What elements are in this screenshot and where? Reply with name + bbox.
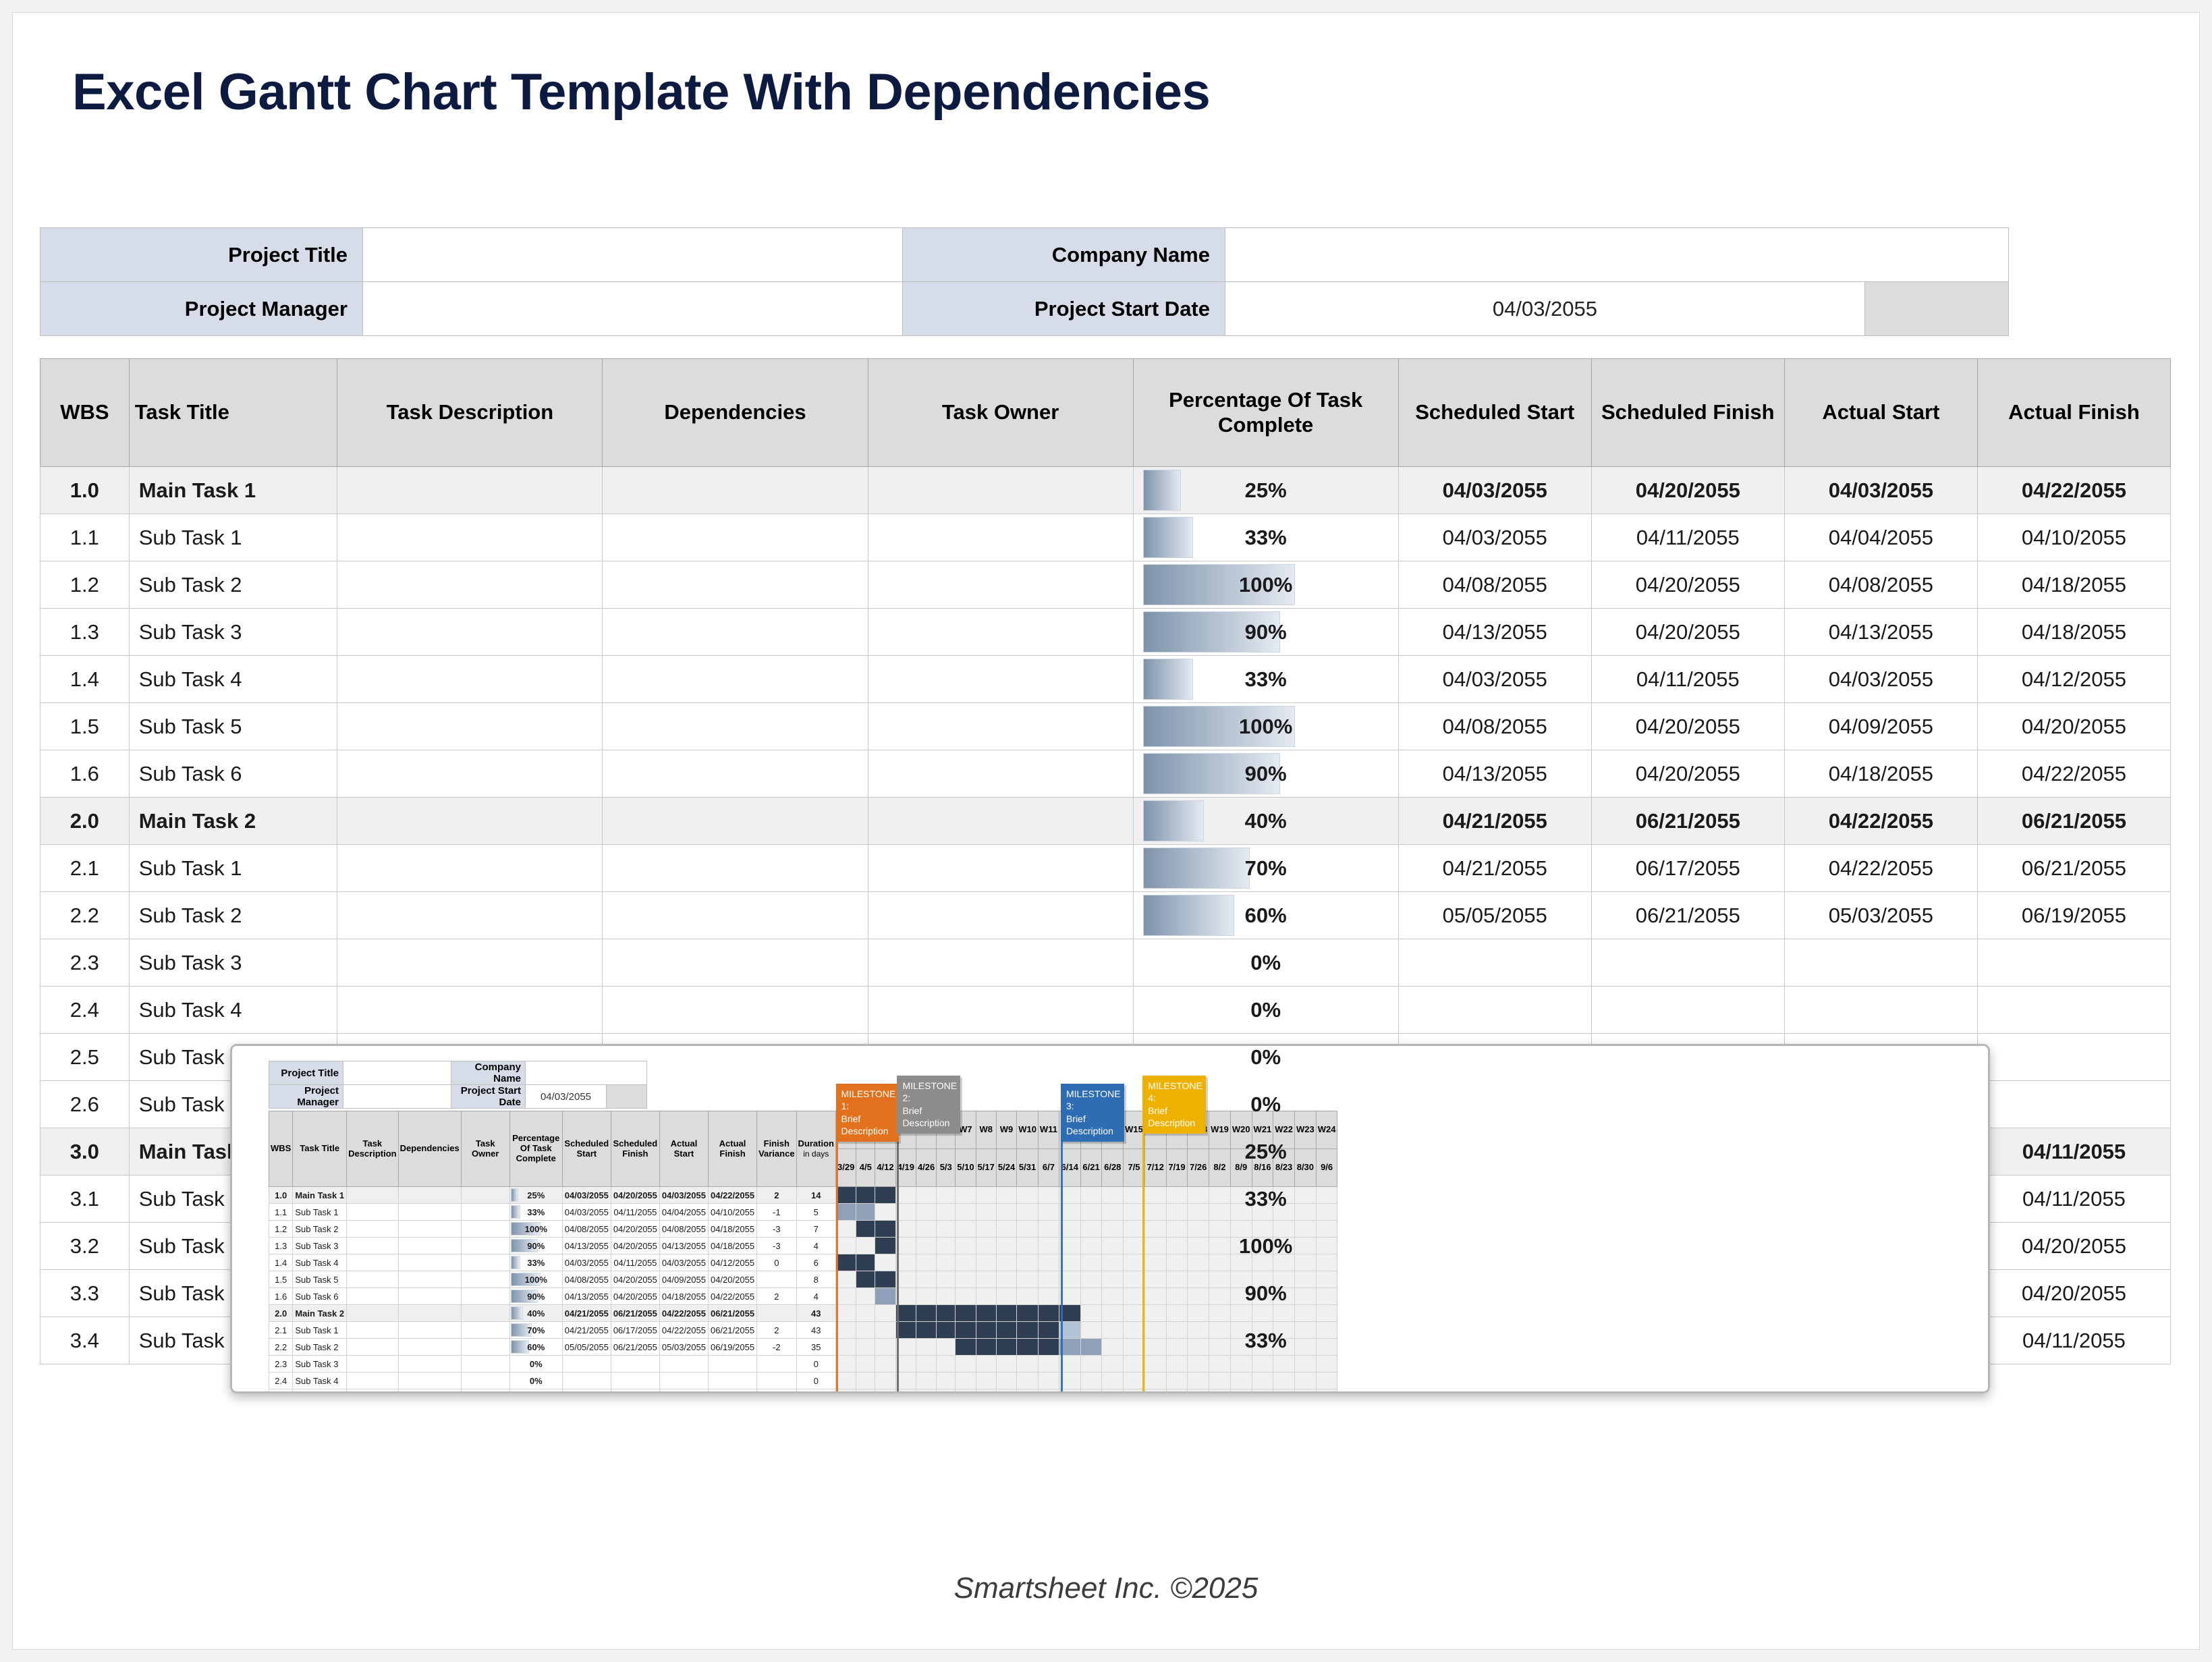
inset-table-row[interactable]: 2.2Sub Task 260%05/05/205506/21/205505/0… — [269, 1339, 1337, 1356]
cell-actual-start[interactable]: 04/22/2055 — [1784, 845, 1977, 892]
inset-cell-duration[interactable]: 8 — [796, 1271, 835, 1288]
cell-scheduled-start[interactable]: 04/13/2055 — [1398, 750, 1591, 798]
cell-task-title[interactable]: Sub Task 2 — [129, 561, 337, 609]
inset-cell-actual-start[interactable]: 04/09/2055 — [659, 1271, 708, 1288]
cell-scheduled-finish[interactable]: 04/20/2055 — [1591, 467, 1784, 514]
table-row[interactable]: 1.0Main Task 125%04/03/205504/20/205504/… — [40, 467, 2171, 514]
cell-percentage-complete[interactable]: 100% — [1133, 561, 1398, 609]
inset-cell-finish-variance[interactable] — [757, 1271, 796, 1288]
cell-task-owner[interactable] — [868, 703, 1133, 750]
cell-actual-finish[interactable]: 04/22/2055 — [1977, 467, 2170, 514]
inset-cell-task-description[interactable] — [347, 1288, 399, 1305]
cell-actual-start[interactable]: 04/08/2055 — [1784, 561, 1977, 609]
cell-actual-start[interactable] — [1784, 987, 1977, 1034]
inset-cell-scheduled-finish[interactable] — [611, 1389, 659, 1394]
cell-scheduled-start[interactable]: 04/21/2055 — [1398, 845, 1591, 892]
inset-cell-finish-variance[interactable]: -3 — [757, 1221, 796, 1238]
milestone-flag[interactable]: MILESTONE 1: Brief Description — [836, 1084, 900, 1142]
inset-cell-percentage[interactable]: 60% — [509, 1339, 562, 1356]
cell-dependencies[interactable] — [603, 561, 868, 609]
inset-cell-scheduled-finish[interactable]: 04/20/2055 — [611, 1187, 659, 1204]
cell-actual-finish[interactable]: 04/11/2055 — [1977, 1128, 2170, 1175]
cell-actual-finish[interactable]: 04/20/2055 — [1977, 1270, 2170, 1317]
inset-cell-actual-start[interactable]: 04/22/2055 — [659, 1305, 708, 1322]
cell-task-owner[interactable] — [868, 892, 1133, 939]
table-row[interactable]: 1.1Sub Task 133%04/03/205504/11/205504/0… — [40, 514, 2171, 561]
inset-cell-task-description[interactable] — [347, 1373, 399, 1389]
cell-task-owner[interactable] — [868, 656, 1133, 703]
cell-dependencies[interactable] — [603, 467, 868, 514]
inset-cell-actual-finish[interactable]: 04/22/2055 — [708, 1187, 756, 1204]
cell-percentage-complete[interactable]: 0% — [1133, 939, 1398, 987]
inset-cell-actual-start[interactable]: 04/18/2055 — [659, 1288, 708, 1305]
inset-cell-dependencies[interactable] — [398, 1356, 461, 1373]
inset-cell-actual-finish[interactable] — [708, 1356, 756, 1373]
cell-dependencies[interactable] — [603, 609, 868, 656]
inset-cell-finish-variance[interactable]: -3 — [757, 1238, 796, 1254]
inset-cell-actual-start[interactable]: 04/08/2055 — [659, 1221, 708, 1238]
inset-cell-dependencies[interactable] — [398, 1238, 461, 1254]
inset-cell-dependencies[interactable] — [398, 1204, 461, 1221]
cell-task-title[interactable]: Sub Task 1 — [129, 514, 337, 561]
cell-task-description[interactable] — [337, 845, 603, 892]
inset-cell-dependencies[interactable] — [398, 1221, 461, 1238]
project-start-date-input[interactable]: 04/03/2055 — [1225, 282, 1865, 336]
inset-cell-percentage[interactable]: 33% — [509, 1204, 562, 1221]
inset-cell-task-owner[interactable] — [461, 1389, 509, 1394]
inset-cell-scheduled-finish[interactable]: 06/21/2055 — [611, 1305, 659, 1322]
cell-actual-start[interactable]: 04/22/2055 — [1784, 798, 1977, 845]
inset-cell-actual-start[interactable]: 04/13/2055 — [659, 1238, 708, 1254]
inset-cell-duration[interactable]: 4 — [796, 1288, 835, 1305]
cell-scheduled-finish[interactable]: 06/21/2055 — [1591, 892, 1784, 939]
cell-dependencies[interactable] — [603, 987, 868, 1034]
inset-cell-scheduled-finish[interactable]: 04/20/2055 — [611, 1271, 659, 1288]
cell-percentage-complete[interactable]: 33% — [1133, 656, 1398, 703]
cell-percentage-complete[interactable]: 33% — [1133, 514, 1398, 561]
inset-cell-duration[interactable]: 7 — [796, 1221, 835, 1238]
cell-percentage-complete[interactable]: 40% — [1133, 798, 1398, 845]
table-row[interactable]: 2.3Sub Task 30% — [40, 939, 2171, 987]
inset-cell-duration[interactable]: 0 — [796, 1389, 835, 1394]
inset-cell-percentage[interactable]: 70% — [509, 1322, 562, 1339]
inset-cell-finish-variance[interactable]: 2 — [757, 1322, 796, 1339]
inset-cell-actual-finish[interactable] — [708, 1373, 756, 1389]
cell-task-description[interactable] — [337, 750, 603, 798]
inset-cell-dependencies[interactable] — [398, 1322, 461, 1339]
inset-cell-task-description[interactable] — [347, 1187, 399, 1204]
cell-scheduled-start[interactable]: 04/08/2055 — [1398, 703, 1591, 750]
cell-actual-start[interactable]: 05/03/2055 — [1784, 892, 1977, 939]
inset-table-row[interactable]: 1.2Sub Task 2100%04/08/205504/20/205504/… — [269, 1221, 1337, 1238]
cell-task-description[interactable] — [337, 514, 603, 561]
table-row[interactable]: 1.6Sub Task 690%04/13/205504/20/205504/1… — [40, 750, 2171, 798]
inset-cell-task-owner[interactable] — [461, 1373, 509, 1389]
cell-task-description[interactable] — [337, 939, 603, 987]
inset-table-row[interactable]: 1.6Sub Task 690%04/13/205504/20/205504/1… — [269, 1288, 1337, 1305]
cell-scheduled-start[interactable]: 04/13/2055 — [1398, 609, 1591, 656]
inset-cell-scheduled-finish[interactable]: 04/20/2055 — [611, 1288, 659, 1305]
inset-cell-dependencies[interactable] — [398, 1288, 461, 1305]
inset-cell-actual-finish[interactable]: 04/10/2055 — [708, 1204, 756, 1221]
cell-task-title[interactable]: Sub Task 3 — [129, 609, 337, 656]
inset-cell-finish-variance[interactable] — [757, 1305, 796, 1322]
cell-actual-start[interactable]: 04/09/2055 — [1784, 703, 1977, 750]
inset-cell-task-owner[interactable] — [461, 1221, 509, 1238]
inset-cell-percentage[interactable]: 25% — [509, 1187, 562, 1204]
inset-cell-task-title[interactable]: Sub Task 3 — [293, 1356, 347, 1373]
inset-cell-dependencies[interactable] — [398, 1389, 461, 1394]
inset-cell-task-description[interactable] — [347, 1389, 399, 1394]
inset-cell-finish-variance[interactable]: 0 — [757, 1254, 796, 1271]
inset-cell-actual-start[interactable]: 04/04/2055 — [659, 1204, 708, 1221]
inset-cell-task-title[interactable]: Sub Task 1 — [293, 1322, 347, 1339]
cell-dependencies[interactable] — [603, 892, 868, 939]
cell-actual-finish[interactable]: 04/22/2055 — [1977, 750, 2170, 798]
inset-cell-scheduled-finish[interactable]: 04/11/2055 — [611, 1254, 659, 1271]
inset-cell-percentage[interactable]: 90% — [509, 1238, 562, 1254]
cell-task-owner[interactable] — [868, 467, 1133, 514]
inset-cell-duration[interactable]: 43 — [796, 1322, 835, 1339]
inset-table-row[interactable]: 1.0Main Task 125%04/03/205504/20/205504/… — [269, 1187, 1337, 1204]
inset-cell-task-title[interactable]: Sub Task 4 — [293, 1254, 347, 1271]
inset-cell-task-description[interactable] — [347, 1339, 399, 1356]
cell-scheduled-finish[interactable]: 06/17/2055 — [1591, 845, 1784, 892]
inset-cell-finish-variance[interactable]: -2 — [757, 1339, 796, 1356]
inset-gantt-cell — [1316, 1356, 1337, 1373]
inset-cell-duration[interactable]: 14 — [796, 1187, 835, 1204]
inset-cell-task-owner[interactable] — [461, 1322, 509, 1339]
cell-actual-finish[interactable]: 04/20/2055 — [1977, 1223, 2170, 1270]
table-row[interactable]: 2.2Sub Task 260%05/05/205506/21/205505/0… — [40, 892, 2171, 939]
inset-cell-actual-start[interactable]: 04/03/2055 — [659, 1254, 708, 1271]
cell-actual-start[interactable]: 04/03/2055 — [1784, 467, 1977, 514]
cell-percentage-complete[interactable]: 100% — [1133, 703, 1398, 750]
cell-scheduled-start[interactable]: 04/21/2055 — [1398, 798, 1591, 845]
cell-actual-finish[interactable]: 04/18/2055 — [1977, 609, 2170, 656]
inset-cell-actual-start[interactable]: 05/03/2055 — [659, 1339, 708, 1356]
cell-percentage-complete[interactable]: 60% — [1133, 892, 1398, 939]
cell-actual-start[interactable]: 04/03/2055 — [1784, 656, 1977, 703]
cell-scheduled-finish[interactable]: 04/20/2055 — [1591, 609, 1784, 656]
cell-task-owner[interactable] — [868, 845, 1133, 892]
inset-cell-scheduled-finish[interactable]: 06/17/2055 — [611, 1322, 659, 1339]
inset-cell-scheduled-start[interactable]: 04/08/2055 — [562, 1271, 611, 1288]
inset-cell-task-title[interactable]: Main Task 1 — [293, 1187, 347, 1204]
cell-percentage-complete[interactable]: 25% — [1133, 467, 1398, 514]
milestone-flag[interactable]: MILESTONE 4: Brief Description — [1142, 1076, 1206, 1134]
cell-task-description[interactable] — [337, 609, 603, 656]
cell-dependencies[interactable] — [603, 798, 868, 845]
inset-table-row[interactable]: 2.4Sub Task 40%0 — [269, 1373, 1337, 1389]
inset-cell-task-owner[interactable] — [461, 1288, 509, 1305]
inset-cell-task-title[interactable]: Sub Task 6 — [293, 1288, 347, 1305]
cell-actual-finish[interactable] — [1977, 987, 2170, 1034]
inset-cell-scheduled-start[interactable]: 04/13/2055 — [562, 1288, 611, 1305]
inset-cell-actual-finish[interactable]: 04/20/2055 — [708, 1271, 756, 1288]
inset-table-row[interactable]: 1.5Sub Task 5100%04/08/205504/20/205504/… — [269, 1271, 1337, 1288]
cell-actual-finish[interactable]: 06/21/2055 — [1977, 845, 2170, 892]
cell-task-description[interactable] — [337, 561, 603, 609]
inset-project-title-input[interactable] — [343, 1061, 451, 1085]
inset-cell-scheduled-start[interactable]: 04/03/2055 — [562, 1187, 611, 1204]
inset-cell-finish-variance[interactable]: -1 — [757, 1204, 796, 1221]
cell-percentage-complete[interactable]: 90% — [1133, 609, 1398, 656]
cell-actual-finish[interactable] — [1977, 939, 2170, 987]
inset-cell-duration[interactable]: 43 — [796, 1305, 835, 1322]
inset-table-row[interactable]: 2.3Sub Task 30%0 — [269, 1356, 1337, 1373]
inset-table-row[interactable]: 2.5Sub Task 50%0 — [269, 1389, 1337, 1394]
inset-cell-task-title[interactable]: Main Task 2 — [293, 1305, 347, 1322]
cell-task-owner[interactable] — [868, 939, 1133, 987]
cell-dependencies[interactable] — [603, 939, 868, 987]
table-row[interactable]: 1.3Sub Task 390%04/13/205504/20/205504/1… — [40, 609, 2171, 656]
inset-cell-task-owner[interactable] — [461, 1305, 509, 1322]
inset-cell-task-title[interactable]: Sub Task 1 — [293, 1204, 347, 1221]
inset-cell-task-description[interactable] — [347, 1322, 399, 1339]
milestone-flag[interactable]: MILESTONE 2: Brief Description — [897, 1076, 960, 1134]
inset-cell-percentage[interactable]: 100% — [509, 1221, 562, 1238]
inset-cell-percentage[interactable]: 90% — [509, 1288, 562, 1305]
cell-task-title[interactable]: Sub Task 1 — [129, 845, 337, 892]
cell-task-description[interactable] — [337, 892, 603, 939]
cell-scheduled-finish[interactable]: 04/11/2055 — [1591, 656, 1784, 703]
inset-cell-task-title[interactable]: Sub Task 3 — [293, 1238, 347, 1254]
cell-scheduled-finish[interactable]: 04/20/2055 — [1591, 750, 1784, 798]
cell-percentage-complete[interactable]: 0% — [1133, 987, 1398, 1034]
cell-task-title[interactable]: Main Task 2 — [129, 798, 337, 845]
company-name-input[interactable] — [1225, 228, 2009, 282]
inset-cell-task-title[interactable]: Sub Task 2 — [293, 1221, 347, 1238]
inset-cell-percentage[interactable]: 0% — [509, 1356, 562, 1373]
cell-scheduled-start[interactable]: 04/03/2055 — [1398, 467, 1591, 514]
table-row[interactable]: 2.4Sub Task 40% — [40, 987, 2171, 1034]
inset-cell-dependencies[interactable] — [398, 1254, 461, 1271]
cell-task-title[interactable]: Sub Task 4 — [129, 987, 337, 1034]
inset-cell-task-description[interactable] — [347, 1221, 399, 1238]
cell-actual-finish[interactable] — [1977, 1034, 2170, 1081]
inset-cell-percentage[interactable]: 100% — [509, 1271, 562, 1288]
inset-cell-task-title[interactable]: Sub Task 5 — [293, 1389, 347, 1394]
cell-task-owner[interactable] — [868, 750, 1133, 798]
cell-actual-finish[interactable]: 04/11/2055 — [1977, 1317, 2170, 1364]
inset-cell-actual-finish[interactable]: 04/12/2055 — [708, 1254, 756, 1271]
inset-gantt-cell — [875, 1389, 895, 1394]
inset-cell-task-owner[interactable] — [461, 1238, 509, 1254]
cell-actual-start[interactable]: 04/04/2055 — [1784, 514, 1977, 561]
cell-task-owner[interactable] — [868, 609, 1133, 656]
inset-table-row[interactable]: 2.1Sub Task 170%04/21/205506/17/205504/2… — [269, 1322, 1337, 1339]
inset-cell-actual-finish[interactable]: 04/18/2055 — [708, 1238, 756, 1254]
project-title-input[interactable] — [363, 228, 903, 282]
inset-cell-dependencies[interactable] — [398, 1339, 461, 1356]
cell-task-title[interactable]: Sub Task 6 — [129, 750, 337, 798]
inset-cell-scheduled-finish[interactable]: 06/21/2055 — [611, 1339, 659, 1356]
cell-task-description[interactable] — [337, 656, 603, 703]
table-row[interactable]: 1.4Sub Task 433%04/03/205504/11/205504/0… — [40, 656, 2171, 703]
cell-scheduled-start[interactable] — [1398, 987, 1591, 1034]
inset-cell-task-owner[interactable] — [461, 1339, 509, 1356]
inset-cell-actual-finish[interactable]: 06/21/2055 — [708, 1305, 756, 1322]
cell-actual-finish[interactable]: 06/19/2055 — [1977, 892, 2170, 939]
inset-cell-task-title[interactable]: Sub Task 5 — [293, 1271, 347, 1288]
cell-actual-start[interactable]: 04/18/2055 — [1784, 750, 1977, 798]
cell-scheduled-finish[interactable]: 04/20/2055 — [1591, 561, 1784, 609]
cell-actual-finish[interactable]: 04/18/2055 — [1977, 561, 2170, 609]
inset-cell-actual-start[interactable] — [659, 1389, 708, 1394]
cell-dependencies[interactable] — [603, 656, 868, 703]
inset-cell-scheduled-finish[interactable]: 04/20/2055 — [611, 1238, 659, 1254]
cell-scheduled-start[interactable]: 04/08/2055 — [1398, 561, 1591, 609]
cell-task-title[interactable]: Sub Task 5 — [129, 703, 337, 750]
inset-cell-duration[interactable]: 6 — [796, 1254, 835, 1271]
table-row[interactable]: 1.2Sub Task 2100%04/08/205504/20/205504/… — [40, 561, 2171, 609]
inset-cell-scheduled-start[interactable] — [562, 1389, 611, 1394]
cell-scheduled-finish[interactable]: 04/20/2055 — [1591, 703, 1784, 750]
cell-dependencies[interactable] — [603, 703, 868, 750]
inset-cell-finish-variance[interactable] — [757, 1389, 796, 1394]
cell-task-owner[interactable] — [868, 514, 1133, 561]
inset-cell-duration[interactable]: 0 — [796, 1356, 835, 1373]
cell-task-description[interactable] — [337, 703, 603, 750]
cell-task-description[interactable] — [337, 467, 603, 514]
inset-cell-task-owner[interactable] — [461, 1187, 509, 1204]
inset-cell-duration[interactable]: 35 — [796, 1339, 835, 1356]
inset-cell-scheduled-finish[interactable]: 04/20/2055 — [611, 1221, 659, 1238]
cell-actual-finish[interactable]: 06/21/2055 — [1977, 798, 2170, 845]
inset-cell-actual-finish[interactable]: 04/18/2055 — [708, 1221, 756, 1238]
inset-project-manager-input[interactable] — [343, 1085, 451, 1109]
cell-actual-finish[interactable]: 04/11/2055 — [1977, 1175, 2170, 1223]
inset-cell-scheduled-start[interactable]: 04/13/2055 — [562, 1238, 611, 1254]
inset-cell-duration[interactable]: 4 — [796, 1238, 835, 1254]
inset-cell-task-owner[interactable] — [461, 1204, 509, 1221]
cell-actual-finish[interactable]: 04/12/2055 — [1977, 656, 2170, 703]
inset-cell-percentage[interactable]: 40% — [509, 1305, 562, 1322]
cell-actual-finish[interactable]: 04/20/2055 — [1977, 703, 2170, 750]
inset-cell-task-description[interactable] — [347, 1305, 399, 1322]
table-row[interactable]: 2.0Main Task 240%04/21/205506/21/205504/… — [40, 798, 2171, 845]
inset-cell-duration[interactable]: 0 — [796, 1373, 835, 1389]
inset-cell-actual-finish[interactable] — [708, 1389, 756, 1394]
inset-cell-scheduled-start[interactable]: 04/21/2055 — [562, 1322, 611, 1339]
inset-company-name-input[interactable] — [526, 1061, 647, 1085]
inset-cell-task-description[interactable] — [347, 1204, 399, 1221]
inset-cell-percentage[interactable]: 0% — [509, 1389, 562, 1394]
table-row[interactable]: 2.1Sub Task 170%04/21/205506/17/205504/2… — [40, 845, 2171, 892]
inset-cell-scheduled-start[interactable] — [562, 1356, 611, 1373]
inset-cell-finish-variance[interactable]: 2 — [757, 1288, 796, 1305]
inset-cell-task-owner[interactable] — [461, 1356, 509, 1373]
cell-task-title[interactable]: Main Task 1 — [129, 467, 337, 514]
cell-task-owner[interactable] — [868, 987, 1133, 1034]
inset-cell-dependencies[interactable] — [398, 1187, 461, 1204]
cell-task-title[interactable]: Sub Task 2 — [129, 892, 337, 939]
cell-percentage-complete[interactable]: 70% — [1133, 845, 1398, 892]
inset-cell-actual-start[interactable]: 04/03/2055 — [659, 1187, 708, 1204]
inset-cell-task-description[interactable] — [347, 1254, 399, 1271]
cell-scheduled-start[interactable]: 04/03/2055 — [1398, 656, 1591, 703]
cell-actual-start[interactable] — [1784, 939, 1977, 987]
inset-cell-actual-start[interactable] — [659, 1373, 708, 1389]
inset-cell-scheduled-start[interactable]: 04/03/2055 — [562, 1254, 611, 1271]
inset-gantt-cell — [856, 1254, 875, 1271]
inset-cell-finish-variance[interactable] — [757, 1356, 796, 1373]
inset-cell-scheduled-finish[interactable] — [611, 1373, 659, 1389]
cell-task-title[interactable]: Sub Task 3 — [129, 939, 337, 987]
inset-table-row[interactable]: 1.3Sub Task 390%04/13/205504/20/205504/1… — [269, 1238, 1337, 1254]
inset-cell-percentage[interactable]: 0% — [509, 1373, 562, 1389]
cell-actual-finish[interactable]: 04/10/2055 — [1977, 514, 2170, 561]
cell-task-description[interactable] — [337, 798, 603, 845]
inset-cell-scheduled-start[interactable] — [562, 1373, 611, 1389]
inset-table-row[interactable]: 2.0Main Task 240%04/21/205506/21/205504/… — [269, 1305, 1337, 1322]
table-row[interactable]: 1.5Sub Task 5100%04/08/205504/20/205504/… — [40, 703, 2171, 750]
inset-cell-scheduled-start[interactable]: 04/08/2055 — [562, 1221, 611, 1238]
inset-cell-finish-variance[interactable]: 2 — [757, 1187, 796, 1204]
inset-cell-task-title[interactable]: Sub Task 2 — [293, 1339, 347, 1356]
cell-scheduled-start[interactable]: 05/05/2055 — [1398, 892, 1591, 939]
inset-cell-finish-variance[interactable] — [757, 1373, 796, 1389]
gantt-preview-overlay[interactable]: Project Title Company Name Project Manag… — [230, 1044, 1990, 1393]
inset-table-row[interactable]: 1.4Sub Task 433%04/03/205504/11/205504/0… — [269, 1254, 1337, 1271]
inset-gantt-cell — [875, 1254, 895, 1271]
inset-cell-scheduled-finish[interactable] — [611, 1356, 659, 1373]
cell-actual-start[interactable]: 04/13/2055 — [1784, 609, 1977, 656]
inset-cell-actual-finish[interactable]: 06/19/2055 — [708, 1339, 756, 1356]
cell-scheduled-finish[interactable] — [1591, 987, 1784, 1034]
cell-dependencies[interactable] — [603, 845, 868, 892]
inset-cell-scheduled-start[interactable]: 04/21/2055 — [562, 1305, 611, 1322]
cell-scheduled-start[interactable]: 04/03/2055 — [1398, 514, 1591, 561]
cell-scheduled-start[interactable] — [1398, 939, 1591, 987]
milestone-flag[interactable]: MILESTONE 3: Brief Description — [1061, 1084, 1124, 1142]
inset-cell-task-description[interactable] — [347, 1271, 399, 1288]
inset-table-row[interactable]: 1.1Sub Task 133%04/03/205504/11/205504/0… — [269, 1204, 1337, 1221]
cell-percentage-complete[interactable]: 90% — [1133, 750, 1398, 798]
cell-actual-finish[interactable] — [1977, 1081, 2170, 1128]
inset-cell-dependencies[interactable] — [398, 1305, 461, 1322]
cell-task-owner[interactable] — [868, 798, 1133, 845]
cell-task-owner[interactable] — [868, 561, 1133, 609]
inset-cell-task-description[interactable] — [347, 1356, 399, 1373]
inset-cell-scheduled-start[interactable]: 05/05/2055 — [562, 1339, 611, 1356]
inset-cell-dependencies[interactable] — [398, 1271, 461, 1288]
project-manager-input[interactable] — [363, 282, 903, 336]
inset-cell-actual-start[interactable]: 04/22/2055 — [659, 1322, 708, 1339]
cell-task-title[interactable]: Sub Task 4 — [129, 656, 337, 703]
inset-cell-actual-finish[interactable]: 04/22/2055 — [708, 1288, 756, 1305]
inset-cell-duration[interactable]: 5 — [796, 1204, 835, 1221]
cell-scheduled-finish[interactable]: 06/21/2055 — [1591, 798, 1784, 845]
inset-cell-scheduled-finish[interactable]: 04/11/2055 — [611, 1204, 659, 1221]
inset-cell-task-title[interactable]: Sub Task 4 — [293, 1373, 347, 1389]
inset-cell-task-owner[interactable] — [461, 1271, 509, 1288]
cell-scheduled-finish[interactable]: 04/11/2055 — [1591, 514, 1784, 561]
inset-cell-actual-start[interactable] — [659, 1356, 708, 1373]
inset-cell-actual-finish[interactable]: 06/21/2055 — [708, 1322, 756, 1339]
inset-cell-percentage[interactable]: 33% — [509, 1254, 562, 1271]
inset-cell-task-owner[interactable] — [461, 1254, 509, 1271]
inset-project-start-date-input[interactable]: 04/03/2055 — [526, 1085, 607, 1109]
cell-dependencies[interactable] — [603, 514, 868, 561]
inset-cell-dependencies[interactable] — [398, 1373, 461, 1389]
cell-task-description[interactable] — [337, 987, 603, 1034]
cell-dependencies[interactable] — [603, 750, 868, 798]
inset-cell-task-description[interactable] — [347, 1238, 399, 1254]
inset-cell-scheduled-start[interactable]: 04/03/2055 — [562, 1204, 611, 1221]
cell-scheduled-finish[interactable] — [1591, 939, 1784, 987]
